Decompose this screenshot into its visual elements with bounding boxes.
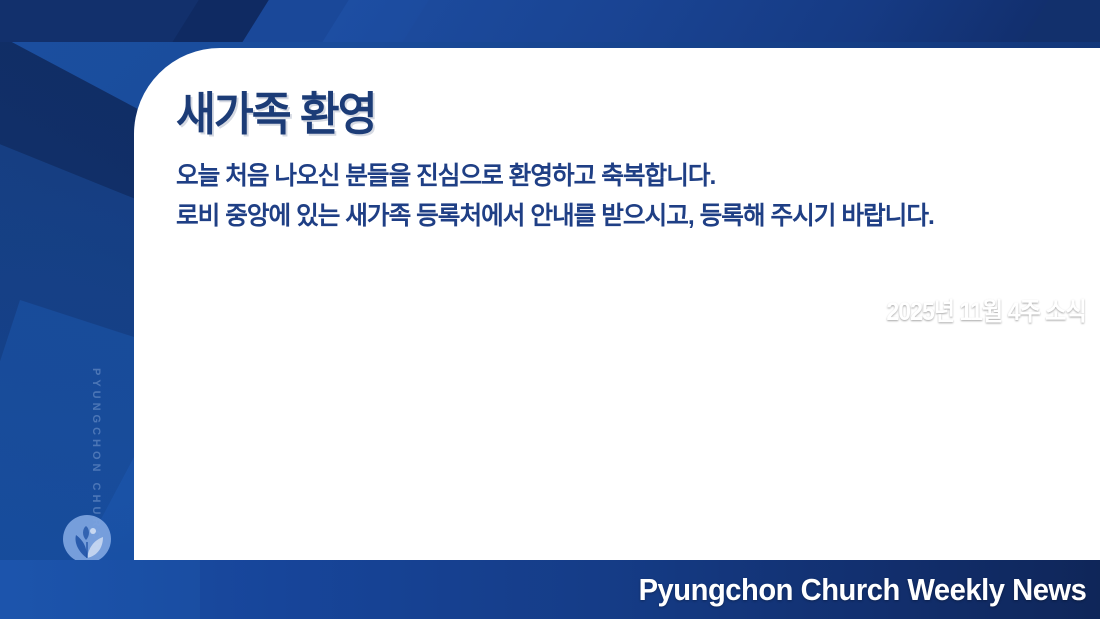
body-line-1: 오늘 처음 나오신 분들을 진심으로 환영하고 축복합니다. [176, 156, 1053, 196]
footer-bar: Pyungchon Church Weekly News [0, 560, 1100, 619]
body-line-2: 로비 중앙에 있는 새가족 등록처에서 안내를 받으시고, 등록해 주시기 바랍… [176, 196, 1053, 236]
church-flower-logo-icon [62, 514, 112, 564]
header-bar [0, 0, 1100, 42]
footer-title: Pyungchon Church Weekly News [638, 572, 1086, 608]
slide-canvas: 2025년 11월 4주 소식 PYUNGCHON CHURCH 새가족 환영 … [0, 0, 1100, 619]
header-diagonal-wide [293, 0, 1068, 42]
header-issue-label: 2025년 11월 4주 소식 [887, 292, 1086, 328]
footer-accent-strip [0, 560, 200, 619]
page-title: 새가족 환영 [176, 78, 376, 144]
announcement-body: 오늘 처음 나오신 분들을 진심으로 환영하고 축복합니다. 로비 중앙에 있는… [176, 156, 1066, 236]
